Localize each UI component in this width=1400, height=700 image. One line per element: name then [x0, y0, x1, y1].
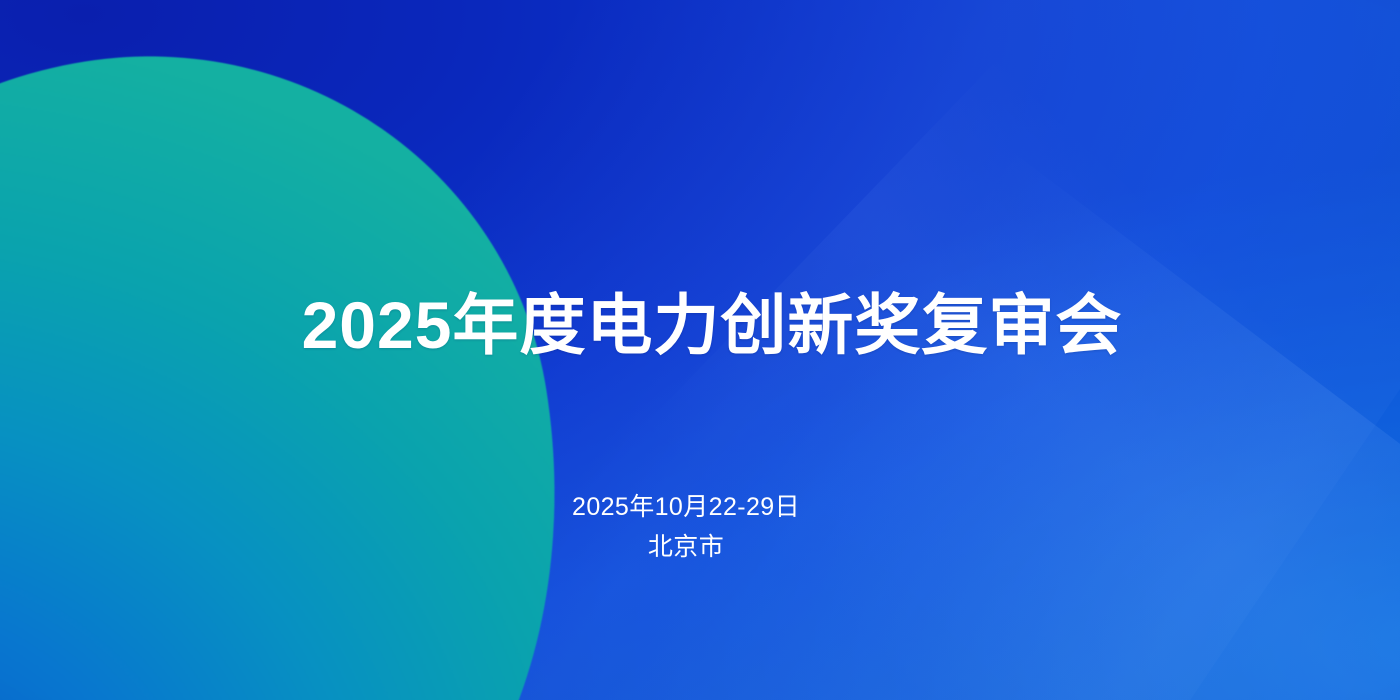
slide-content: 2025年度电力创新奖复审会 2025年10月22-29日 北京市	[0, 0, 1400, 700]
title-slide: 2025年度电力创新奖复审会 2025年10月22-29日 北京市	[0, 0, 1400, 700]
event-location: 北京市	[0, 528, 1372, 568]
event-date: 2025年10月22-29日	[0, 488, 1372, 528]
subtitle-block: 2025年10月22-29日 北京市	[0, 488, 1400, 567]
page-title: 2025年度电力创新奖复审会	[0, 289, 1400, 363]
